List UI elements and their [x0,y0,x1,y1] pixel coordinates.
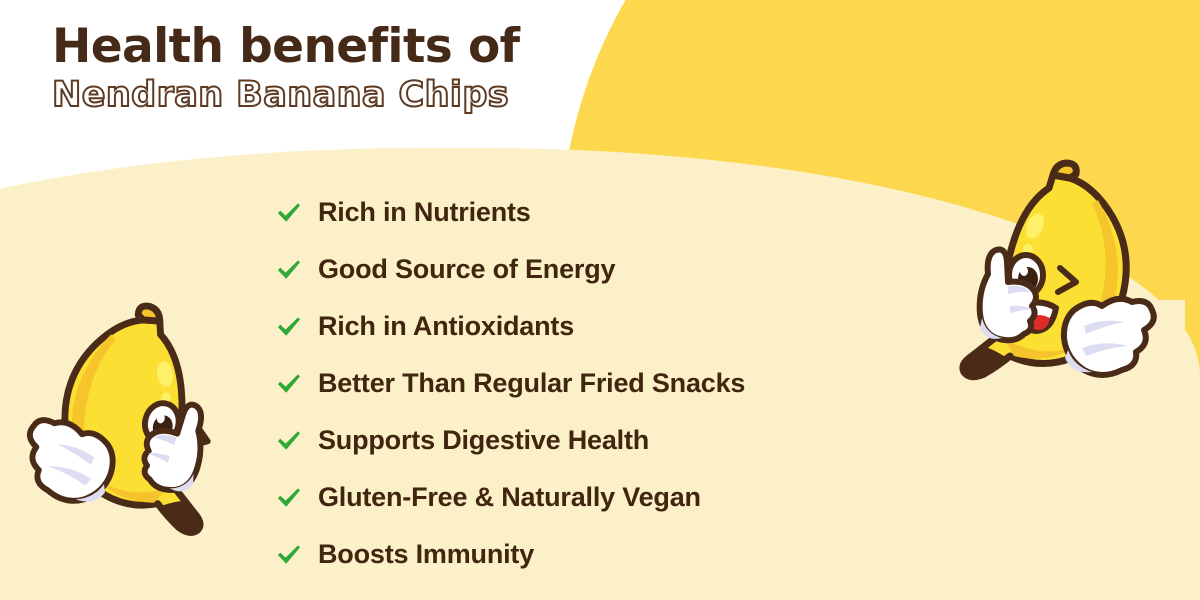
list-item: Gluten-Free & Naturally Vegan [276,469,745,526]
list-item-label: Good Source of Energy [318,254,615,285]
list-item: Rich in Antioxidants [276,298,745,355]
banana-mascot-right [952,158,1166,396]
list-item: Rich in Nutrients [276,184,745,241]
list-item-label: Rich in Antioxidants [318,311,574,342]
check-icon [276,200,302,226]
list-item: Boosts Immunity [276,526,745,583]
benefits-list: Rich in Nutrients Good Source of Energy … [276,184,745,583]
page-subtitle: Nendran Banana Chips [52,77,520,114]
check-icon [276,257,302,283]
list-item: Supports Digestive Health [276,412,745,469]
heading-block: Health benefits of Nendran Banana Chips [52,22,520,114]
list-item-label: Better Than Regular Fried Snacks [318,368,745,399]
list-item-label: Supports Digestive Health [318,425,649,456]
list-item: Better Than Regular Fried Snacks [276,355,745,412]
list-item-label: Boosts Immunity [318,539,534,570]
poster-canvas: Health benefits of Nendran Banana Chips … [0,0,1200,600]
list-item: Good Source of Energy [276,241,745,298]
mascot-hand-right [1064,299,1154,375]
list-item-label: Gluten-Free & Naturally Vegan [318,482,701,513]
check-icon [276,485,302,511]
check-icon [276,314,302,340]
check-icon [276,428,302,454]
list-item-label: Rich in Nutrients [318,197,531,228]
check-icon [276,542,302,568]
check-icon [276,371,302,397]
banana-mascot-left [26,292,236,560]
page-title: Health benefits of [52,22,520,71]
